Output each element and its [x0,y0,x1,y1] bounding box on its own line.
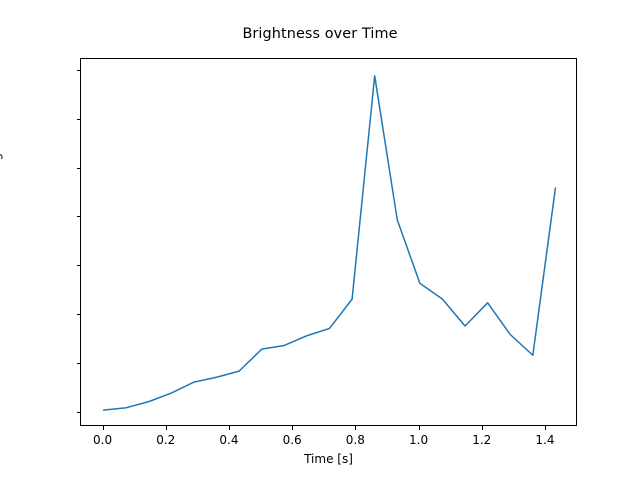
x-tick-label: 0.0 [73,434,133,446]
x-tick-label: 0.2 [136,434,196,446]
x-tick-label: 0.4 [199,434,259,446]
line-plot-svg [81,59,578,427]
matplotlib-figure: Brightness over Time Brightness Time [s]… [0,0,640,480]
x-axis-label: Time [s] [80,452,577,466]
plot-axes [80,58,577,426]
x-tick-label: 1.2 [452,434,512,446]
x-tick-label: 0.8 [325,434,385,446]
x-tick-label: 1.4 [515,434,575,446]
brightness-line-series [104,76,556,410]
x-tick-label: 1.0 [389,434,449,446]
x-tick-label: 0.6 [262,434,322,446]
y-axis-label: Brightness [0,85,3,205]
chart-title: Brightness over Time [0,26,640,42]
